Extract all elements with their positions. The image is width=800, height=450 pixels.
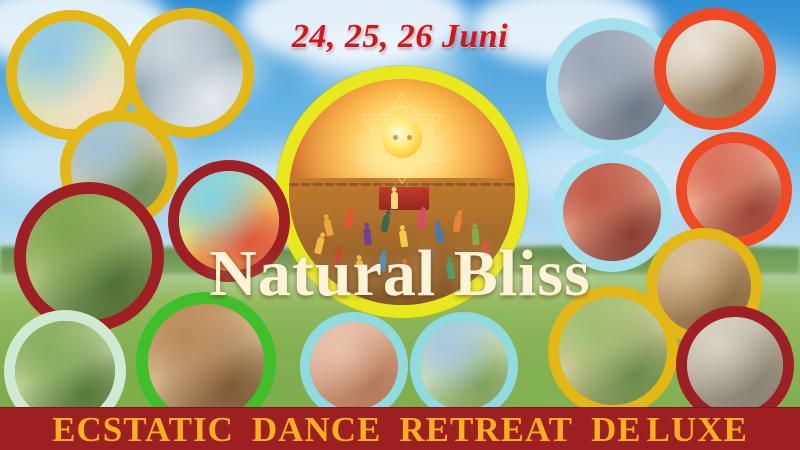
poster-canvas: 24, 25, 26 Juni Natural Bliss ECSTATICDA…	[0, 0, 800, 450]
photo-massage-treatment-image	[310, 322, 398, 410]
photo-retreat-venue-interior-image	[687, 317, 783, 413]
smiling-sun-face-icon	[382, 118, 422, 158]
photo-dancer-straw-hat-image	[148, 304, 264, 420]
photo-outdoor-yoga-class	[410, 312, 518, 420]
page-title: Natural Bliss	[0, 236, 800, 312]
banner-word-de: DE	[591, 410, 642, 449]
photo-outdoor-yoga-class-image	[420, 322, 508, 410]
photo-dj-setup-laptop-field-image	[559, 297, 667, 405]
banner-word-ecstatic: ECSTATIC	[52, 410, 234, 449]
photo-massage-treatment	[300, 312, 408, 420]
banner-word-retreat: RETREAT	[399, 410, 573, 449]
photo-smiling-man-red-shirt-image	[687, 143, 781, 237]
bottom-banner: ECSTATICDANCERETREATDELUXE	[0, 407, 800, 450]
banner-word-luxe: LUXE	[647, 410, 748, 449]
event-date-heading: 24, 25, 26 Juni	[0, 18, 800, 56]
dancer-figure-center	[391, 192, 398, 209]
banner-text: ECSTATICDANCERETREATDELUXE	[52, 412, 748, 447]
photo-group-dance-tipi-image	[15, 321, 115, 421]
banner-word-dance: DANCE	[252, 410, 381, 449]
